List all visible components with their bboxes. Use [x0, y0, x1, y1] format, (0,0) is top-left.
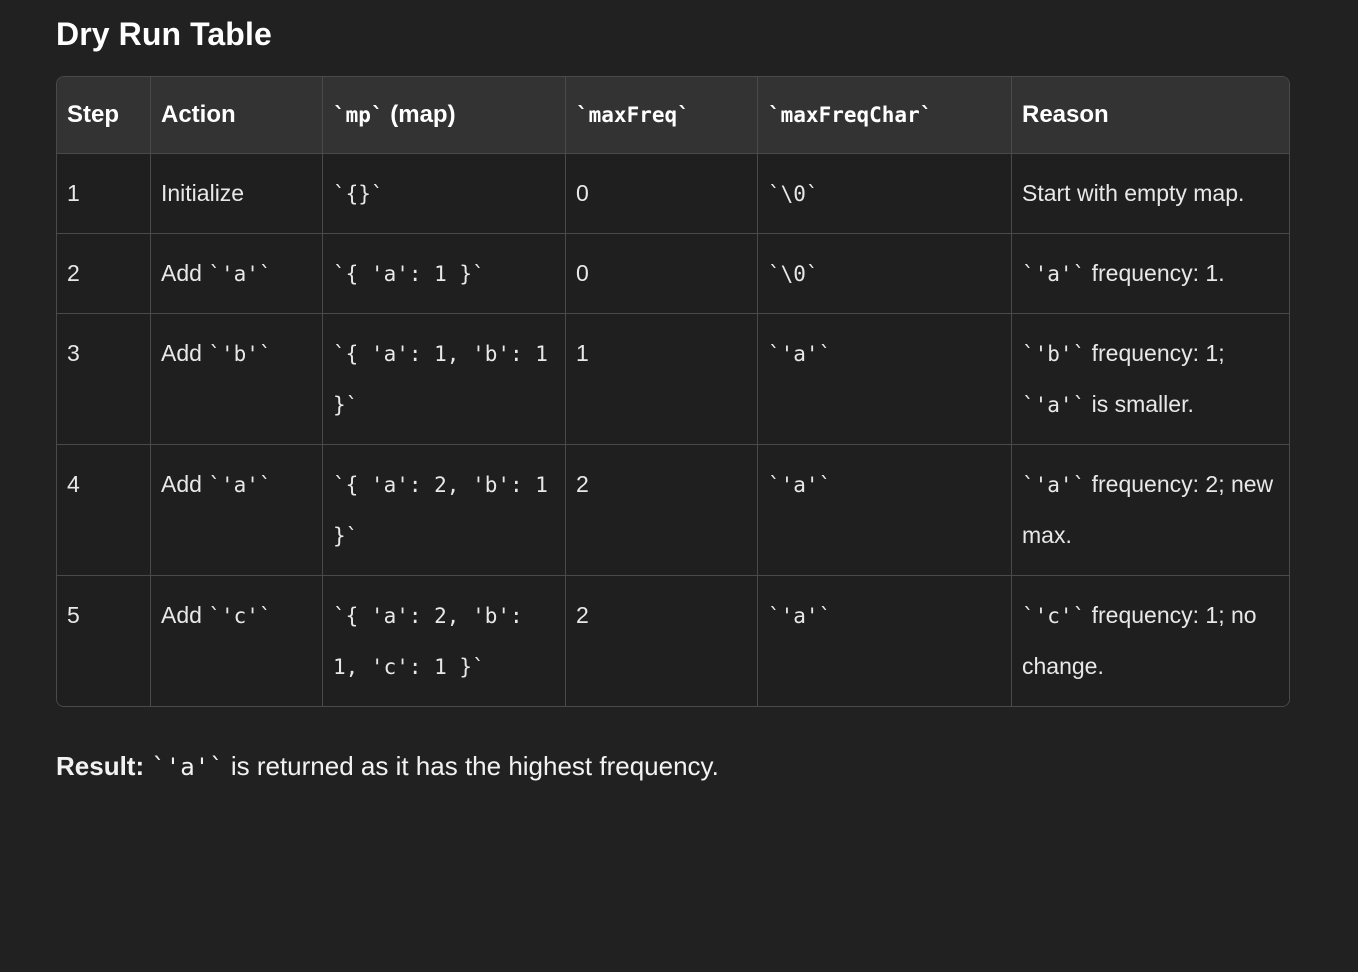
- cell-action: Add `'a'`: [151, 234, 323, 314]
- cell-maxfreqchar-code: `\0`: [768, 262, 819, 286]
- cell-reason-code: `'a'`: [1022, 473, 1085, 497]
- column-header-action: Action: [151, 77, 323, 154]
- cell-step: 5: [57, 576, 151, 706]
- cell-maxfreqchar-code: `'a'`: [768, 473, 831, 497]
- cell-map-code: `{ 'a': 2, 'b': 1, 'c': 1 }`: [333, 604, 523, 679]
- cell-maxfreq: 0: [566, 234, 758, 314]
- result-summary: Result: `'a'` is returned as it has the …: [56, 747, 1302, 786]
- cell-action-text: Add: [161, 260, 202, 286]
- column-header-reason: Reason: [1012, 77, 1289, 154]
- cell-step-value: 2: [67, 260, 80, 286]
- column-header-maxfreq: `maxFreq`: [566, 77, 758, 154]
- table-header-row: Step Action `mp` (map) `maxFreq` `maxFre…: [57, 77, 1289, 154]
- cell-step: 3: [57, 314, 151, 445]
- column-header-step: Step: [57, 77, 151, 154]
- page-title: Dry Run Table: [56, 0, 1302, 54]
- table-row: 3 Add `'b'` `{ 'a': 1, 'b': 1 }` 1 `'a'`…: [57, 314, 1289, 445]
- table-row: 1 Initialize `{}` 0 `\0` Start with empt…: [57, 154, 1289, 234]
- cell-map: `{ 'a': 1 }`: [323, 234, 566, 314]
- cell-reason-text: Start with empty map.: [1022, 180, 1244, 206]
- column-header-reason-label: Reason: [1022, 101, 1109, 128]
- cell-reason-text: frequency: 1.: [1085, 260, 1224, 286]
- column-header-map: `mp` (map): [323, 77, 566, 154]
- cell-map-code: `{ 'a': 1, 'b': 1 }`: [333, 342, 548, 417]
- cell-reason: `'a'` frequency: 2; new max.: [1012, 445, 1289, 576]
- cell-action-text: Add: [161, 471, 202, 497]
- cell-action: Add `'b'`: [151, 314, 323, 445]
- cell-maxfreqchar: `\0`: [758, 234, 1012, 314]
- cell-maxfreqchar: `'a'`: [758, 314, 1012, 445]
- dry-run-table: Step Action `mp` (map) `maxFreq` `maxFre…: [56, 76, 1290, 707]
- cell-reason: `'b'` frequency: 1; `'a'` is smaller.: [1012, 314, 1289, 445]
- cell-reason-text: frequency: 1;: [1085, 340, 1224, 366]
- dry-run-table-wrapper: Step Action `mp` (map) `maxFreq` `maxFre…: [56, 76, 1288, 707]
- column-header-map-label: (map): [384, 101, 456, 128]
- table-row: 4 Add `'a'` `{ 'a': 2, 'b': 1 }` 2 `'a'`…: [57, 445, 1289, 576]
- table-row: 2 Add `'a'` `{ 'a': 1 }` 0 `\0` `'a'` fr…: [57, 234, 1289, 314]
- cell-step-value: 5: [67, 602, 80, 628]
- cell-maxfreqchar-code: `\0`: [768, 182, 819, 206]
- cell-action-text: Initialize: [161, 180, 244, 206]
- cell-maxfreqchar: `'a'`: [758, 445, 1012, 576]
- cell-map: `{ 'a': 2, 'b': 1 }`: [323, 445, 566, 576]
- cell-step-value: 1: [67, 180, 80, 206]
- result-code: `'a'`: [151, 753, 223, 781]
- cell-reason: `'c'` frequency: 1; no change.: [1012, 576, 1289, 706]
- cell-maxfreqchar-code: `'a'`: [768, 604, 831, 628]
- result-text: is returned as it has the highest freque…: [224, 751, 719, 781]
- table-header: Step Action `mp` (map) `maxFreq` `maxFre…: [57, 77, 1289, 154]
- column-header-map-code: `mp`: [333, 103, 384, 127]
- cell-step: 2: [57, 234, 151, 314]
- cell-maxfreq: 2: [566, 576, 758, 706]
- column-header-maxfreq-label: `maxFreq`: [576, 103, 690, 127]
- cell-map: `{ 'a': 2, 'b': 1, 'c': 1 }`: [323, 576, 566, 706]
- cell-step: 4: [57, 445, 151, 576]
- cell-maxfreq: 2: [566, 445, 758, 576]
- cell-map: `{}`: [323, 154, 566, 234]
- cell-map-code: `{ 'a': 1 }`: [333, 262, 485, 286]
- cell-step-value: 3: [67, 340, 80, 366]
- cell-step-value: 4: [67, 471, 80, 497]
- cell-action-code: `'a'`: [208, 262, 271, 286]
- cell-action-code: `'c'`: [208, 604, 271, 628]
- cell-maxfreq-value: 2: [576, 471, 589, 497]
- column-header-step-label: Step: [67, 101, 119, 128]
- cell-action: Initialize: [151, 154, 323, 234]
- column-header-action-label: Action: [161, 101, 236, 128]
- cell-maxfreqchar-code: `'a'`: [768, 342, 831, 366]
- cell-reason-code: `'c'`: [1022, 604, 1085, 628]
- cell-maxfreq-value: 0: [576, 180, 589, 206]
- cell-maxfreq: 1: [566, 314, 758, 445]
- cell-reason-code: `'b'`: [1022, 342, 1085, 366]
- cell-action: Add `'a'`: [151, 445, 323, 576]
- cell-reason-text-2: is smaller.: [1085, 391, 1194, 417]
- cell-action-text: Add: [161, 602, 202, 628]
- cell-maxfreq: 0: [566, 154, 758, 234]
- cell-reason: `'a'` frequency: 1.: [1012, 234, 1289, 314]
- cell-action: Add `'c'`: [151, 576, 323, 706]
- dry-run-page: Dry Run Table Step Action `mp` (map) `ma…: [0, 0, 1358, 972]
- cell-action-code: `'b'`: [208, 342, 271, 366]
- table-row: 5 Add `'c'` `{ 'a': 2, 'b': 1, 'c': 1 }`…: [57, 576, 1289, 706]
- cell-action-code: `'a'`: [208, 473, 271, 497]
- table-body: 1 Initialize `{}` 0 `\0` Start with empt…: [57, 154, 1289, 706]
- cell-maxfreq-value: 1: [576, 340, 589, 366]
- cell-action-text: Add: [161, 340, 202, 366]
- column-header-maxfreqchar-label: `maxFreqChar`: [768, 103, 932, 127]
- result-label: Result:: [56, 751, 144, 781]
- cell-map-code: `{ 'a': 2, 'b': 1 }`: [333, 473, 548, 548]
- cell-step: 1: [57, 154, 151, 234]
- cell-maxfreqchar: `\0`: [758, 154, 1012, 234]
- cell-reason-code: `'a'`: [1022, 262, 1085, 286]
- column-header-maxfreqchar: `maxFreqChar`: [758, 77, 1012, 154]
- cell-map: `{ 'a': 1, 'b': 1 }`: [323, 314, 566, 445]
- cell-map-code: `{}`: [333, 182, 384, 206]
- cell-reason-code-2: `'a'`: [1022, 393, 1085, 417]
- cell-maxfreq-value: 0: [576, 260, 589, 286]
- cell-maxfreq-value: 2: [576, 602, 589, 628]
- cell-maxfreqchar: `'a'`: [758, 576, 1012, 706]
- cell-reason: Start with empty map.: [1012, 154, 1289, 234]
